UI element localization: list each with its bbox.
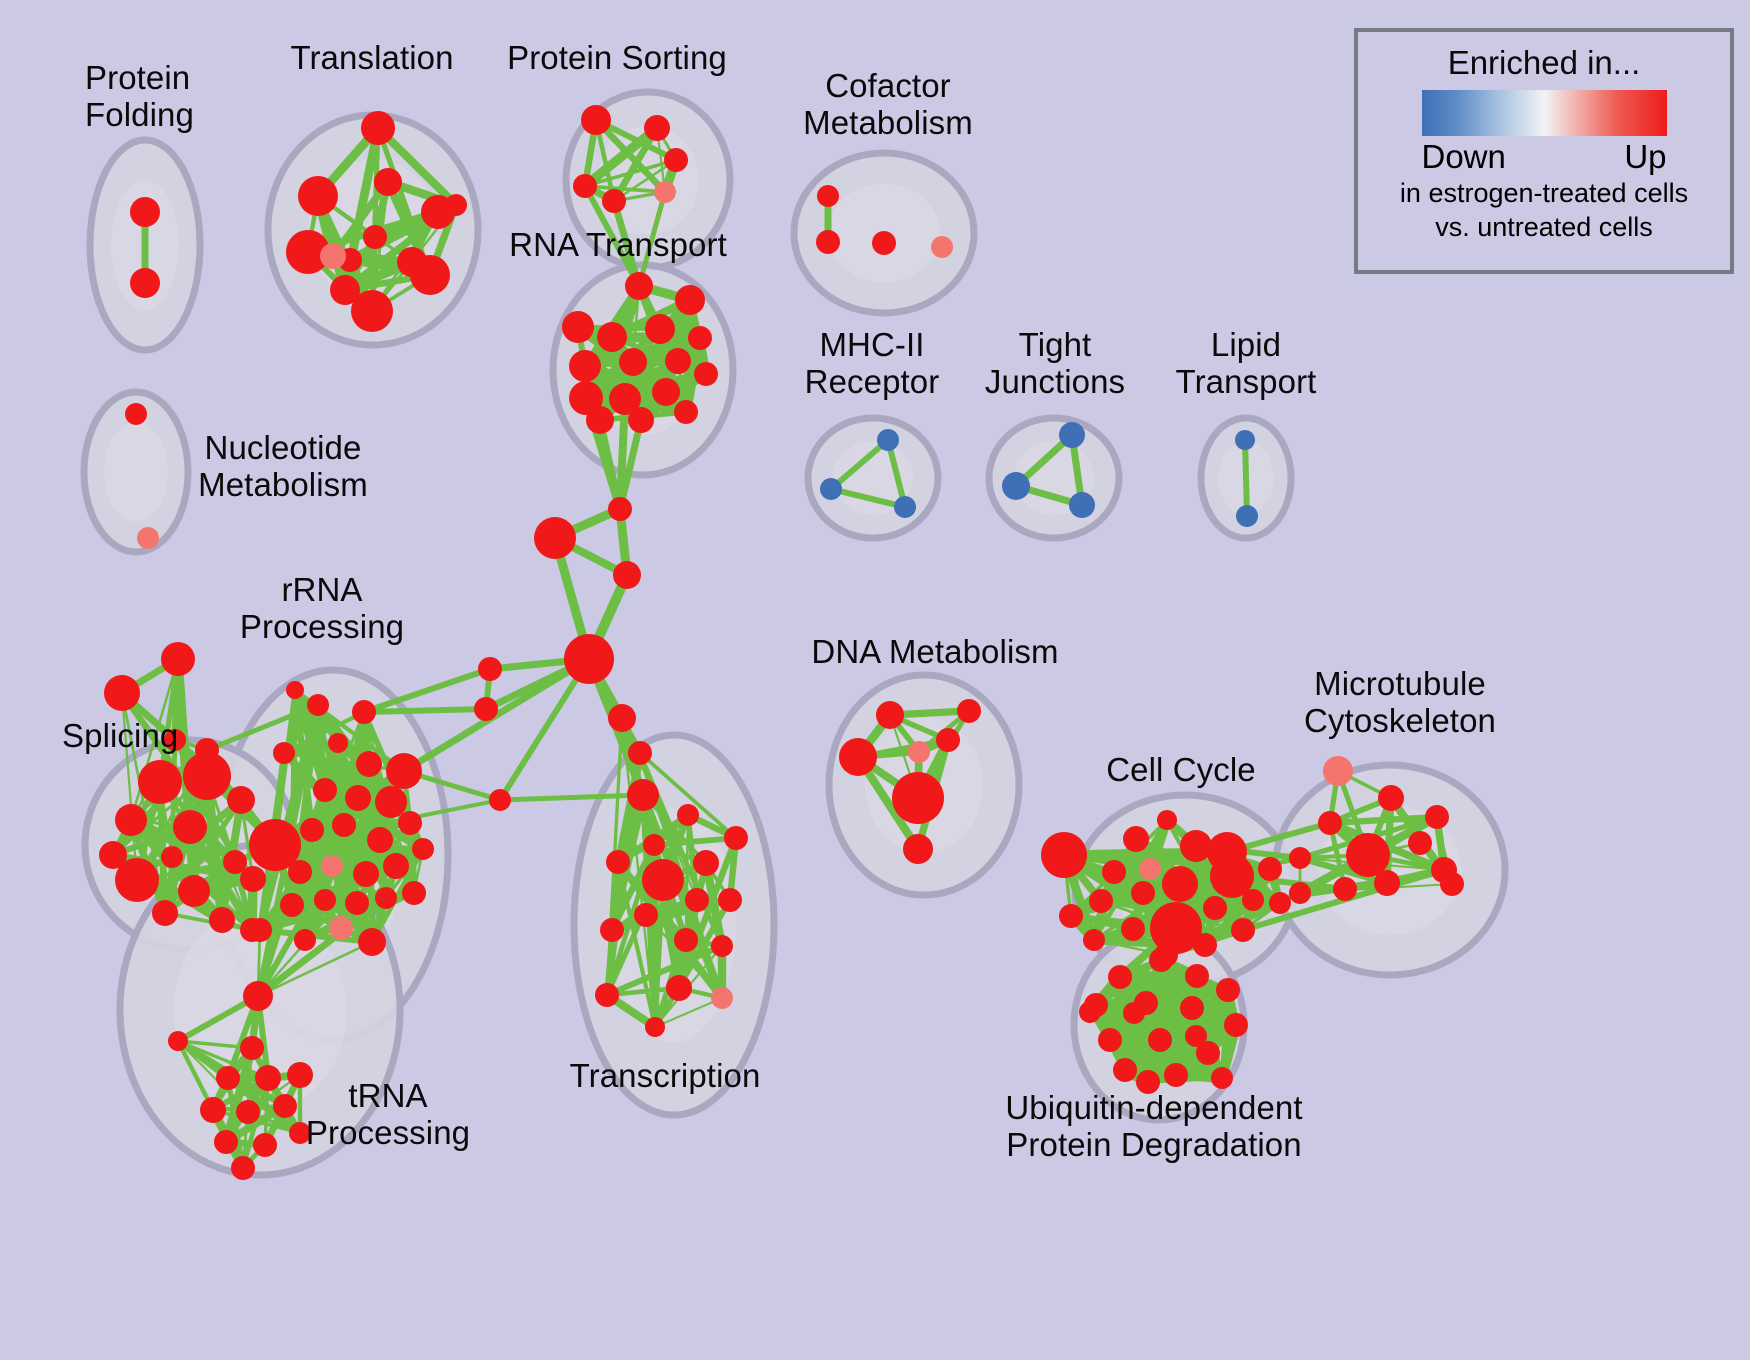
network-node — [1289, 847, 1311, 869]
network-node — [1149, 948, 1173, 972]
network-node — [195, 738, 219, 762]
network-node — [608, 704, 636, 732]
network-node — [820, 478, 842, 500]
network-node — [489, 789, 511, 811]
network-node — [1098, 1028, 1122, 1052]
color-scale-bar — [1422, 90, 1667, 136]
network-node — [240, 866, 266, 892]
network-node — [1113, 1058, 1137, 1082]
network-node — [345, 785, 371, 811]
network-node — [872, 231, 896, 255]
network-node — [273, 742, 295, 764]
network-node — [104, 675, 140, 711]
cluster-label-lipid-transport: Lipid Transport — [1176, 327, 1317, 401]
network-node — [227, 786, 255, 814]
network-node — [602, 189, 626, 213]
network-node — [216, 1066, 240, 1090]
network-node — [353, 861, 379, 887]
network-node — [1164, 1063, 1188, 1087]
network-node — [534, 517, 576, 559]
network-node — [1224, 1013, 1248, 1037]
network-node — [876, 701, 904, 729]
enrichment-map-figure: Protein FoldingTranslationProtein Sortin… — [0, 0, 1750, 1360]
network-node — [643, 834, 665, 856]
network-node — [1157, 810, 1177, 830]
network-node — [1102, 860, 1126, 884]
network-node — [839, 738, 877, 776]
network-node — [286, 681, 304, 699]
network-node — [1108, 965, 1132, 989]
network-node — [231, 1156, 255, 1180]
network-node — [675, 285, 705, 315]
network-node — [1069, 492, 1095, 518]
network-node — [300, 818, 324, 842]
network-node — [562, 311, 594, 343]
network-node — [1079, 1001, 1101, 1023]
network-node — [314, 889, 336, 911]
network-node — [288, 860, 312, 884]
legend-high-label: Up — [1624, 138, 1666, 176]
network-node — [367, 827, 393, 853]
network-node — [936, 728, 960, 752]
network-node — [674, 928, 698, 952]
network-node — [627, 779, 659, 811]
network-node — [352, 700, 376, 724]
network-node — [1083, 929, 1105, 951]
network-node — [892, 772, 944, 824]
legend-low-label: Down — [1422, 138, 1506, 176]
network-node — [236, 1100, 260, 1124]
network-node — [1425, 805, 1449, 829]
network-node — [1180, 830, 1212, 862]
network-node — [383, 853, 409, 879]
network-node — [877, 429, 899, 451]
legend-caption-line1: in estrogen-treated cells — [1400, 178, 1688, 210]
network-node — [138, 760, 182, 804]
network-node — [178, 875, 210, 907]
network-node — [1440, 872, 1464, 896]
network-node — [1002, 472, 1030, 500]
network-node — [613, 561, 641, 589]
network-node — [634, 903, 658, 927]
network-node — [478, 657, 502, 681]
network-node — [817, 185, 839, 207]
network-node — [329, 916, 353, 940]
network-node — [1059, 422, 1085, 448]
network-node — [688, 326, 712, 350]
network-node — [595, 983, 619, 1007]
network-node — [569, 350, 601, 382]
network-node — [398, 811, 422, 835]
network-node — [1374, 870, 1400, 896]
network-node — [412, 838, 434, 860]
network-node — [356, 751, 382, 777]
network-node — [685, 888, 709, 912]
network-node — [402, 881, 426, 905]
network-node — [645, 314, 675, 344]
network-node — [1193, 933, 1217, 957]
cluster-label-rrna-processing: rRNA Processing — [240, 572, 404, 646]
network-node — [1123, 826, 1149, 852]
network-node — [294, 929, 316, 951]
network-node — [386, 753, 422, 789]
network-node — [908, 741, 930, 763]
network-node — [1333, 877, 1357, 901]
network-node — [1216, 978, 1240, 1002]
network-node — [666, 975, 692, 1001]
cluster-label-protein-sorting: Protein Sorting — [507, 40, 727, 77]
network-node — [152, 900, 178, 926]
network-node — [298, 176, 338, 216]
network-node — [816, 230, 840, 254]
network-node — [1408, 831, 1432, 855]
cluster-label-transcription: Transcription — [570, 1058, 761, 1095]
network-node — [644, 115, 670, 141]
network-node — [1059, 904, 1083, 928]
network-node — [374, 168, 402, 196]
network-node — [1185, 1025, 1207, 1047]
network-node — [693, 850, 719, 876]
network-node — [1236, 505, 1258, 527]
network-node — [125, 403, 147, 425]
network-node — [1258, 857, 1282, 881]
network-node — [600, 918, 624, 942]
network-edge — [1245, 440, 1247, 516]
network-node — [255, 1065, 281, 1091]
network-node — [137, 527, 159, 549]
network-node — [1123, 1002, 1145, 1024]
network-node — [375, 786, 407, 818]
network-node — [161, 846, 183, 868]
network-node — [642, 859, 684, 901]
network-node — [474, 697, 498, 721]
network-node — [645, 1017, 665, 1037]
network-node — [1323, 756, 1353, 786]
network-node — [711, 987, 733, 1009]
network-node — [652, 378, 680, 406]
legend-caption-line2: vs. untreated cells — [1435, 212, 1653, 244]
network-node — [345, 891, 369, 915]
cluster-label-dna-metabolism: DNA Metabolism — [811, 634, 1058, 671]
network-node — [273, 1094, 297, 1118]
network-node — [711, 935, 733, 957]
cluster-label-protein-folding: Protein Folding — [85, 60, 194, 134]
cluster-label-splicing: Splicing — [62, 718, 178, 755]
network-node — [1269, 892, 1291, 914]
network-node — [654, 181, 676, 203]
cluster-label-ubiquitin-degradation: Ubiquitin-dependent Protein Degradation — [1005, 1090, 1302, 1164]
network-node — [99, 841, 127, 869]
network-node — [628, 741, 652, 765]
cluster-label-mhc-ii-receptor: MHC-II Receptor — [805, 327, 940, 401]
network-node — [1203, 896, 1227, 920]
network-node — [240, 1036, 264, 1060]
network-node — [1231, 918, 1255, 942]
cluster-label-microtubule-cytoskeleton: Microtubule Cytoskeleton — [1304, 666, 1496, 740]
network-node — [608, 497, 632, 521]
network-node — [628, 407, 654, 433]
network-node — [320, 243, 346, 269]
network-node — [1148, 1028, 1172, 1052]
network-node — [1139, 858, 1161, 880]
network-node — [130, 268, 160, 298]
network-node — [1089, 889, 1113, 913]
cluster-label-translation: Translation — [290, 40, 453, 77]
network-node — [1041, 832, 1087, 878]
network-node — [209, 907, 235, 933]
network-node — [1346, 833, 1390, 877]
network-node — [168, 1031, 188, 1051]
network-node — [130, 197, 160, 227]
cluster-label-nucleotide-metabolism: Nucleotide Metabolism — [198, 430, 368, 504]
network-node — [248, 918, 272, 942]
cluster-label-rna-transport: RNA Transport — [509, 227, 727, 264]
legend-panel: Enriched in... Down Up in estrogen-treat… — [1354, 28, 1734, 274]
network-node — [597, 322, 627, 352]
network-node — [1378, 785, 1404, 811]
network-node — [718, 888, 742, 912]
cluster-label-trna-processing: tRNA Processing — [306, 1078, 470, 1152]
network-node — [581, 105, 611, 135]
network-node — [894, 496, 916, 518]
network-node — [586, 406, 614, 434]
network-node — [1211, 1067, 1233, 1089]
network-node — [361, 111, 395, 145]
network-node — [410, 255, 450, 295]
network-node — [214, 1130, 238, 1154]
network-node — [173, 810, 207, 844]
cluster-ellipse-inner — [104, 422, 168, 521]
network-node — [1318, 811, 1342, 835]
network-node — [1131, 881, 1155, 905]
network-node — [358, 928, 386, 956]
network-node — [619, 348, 647, 376]
network-node — [200, 1097, 226, 1123]
network-node — [328, 733, 348, 753]
network-node — [573, 174, 597, 198]
network-node — [321, 855, 343, 877]
network-node — [1235, 430, 1255, 450]
network-node — [280, 893, 304, 917]
network-node — [375, 887, 397, 909]
network-node — [677, 804, 699, 826]
network-node — [363, 225, 387, 249]
network-node — [1162, 866, 1198, 902]
legend-endpoints: Down Up — [1422, 138, 1667, 176]
network-node — [161, 642, 195, 676]
network-node — [243, 981, 273, 1011]
legend-title: Enriched in... — [1448, 44, 1641, 82]
network-node — [564, 634, 614, 684]
network-node — [1180, 996, 1204, 1020]
network-node — [931, 236, 953, 258]
network-node — [253, 1133, 277, 1157]
cluster-label-cell-cycle: Cell Cycle — [1106, 752, 1256, 789]
network-node — [694, 362, 718, 386]
network-node — [445, 194, 467, 216]
cluster-label-cofactor-metabolism: Cofactor Metabolism — [803, 68, 973, 142]
network-node — [674, 400, 698, 424]
cluster-label-tight-junctions: Tight Junctions — [985, 327, 1125, 401]
network-node — [606, 850, 630, 874]
network-node — [351, 290, 393, 332]
network-node — [332, 813, 356, 837]
network-edge — [364, 709, 486, 712]
network-node — [115, 804, 147, 836]
network-node — [307, 694, 329, 716]
network-node — [665, 348, 691, 374]
network-node — [724, 826, 748, 850]
network-node — [903, 834, 933, 864]
network-node — [1121, 917, 1145, 941]
network-node — [664, 148, 688, 172]
network-node — [625, 272, 653, 300]
network-node — [1185, 964, 1209, 988]
network-node — [313, 778, 337, 802]
network-node — [1289, 882, 1311, 904]
network-node — [1242, 889, 1264, 911]
network-node — [957, 699, 981, 723]
